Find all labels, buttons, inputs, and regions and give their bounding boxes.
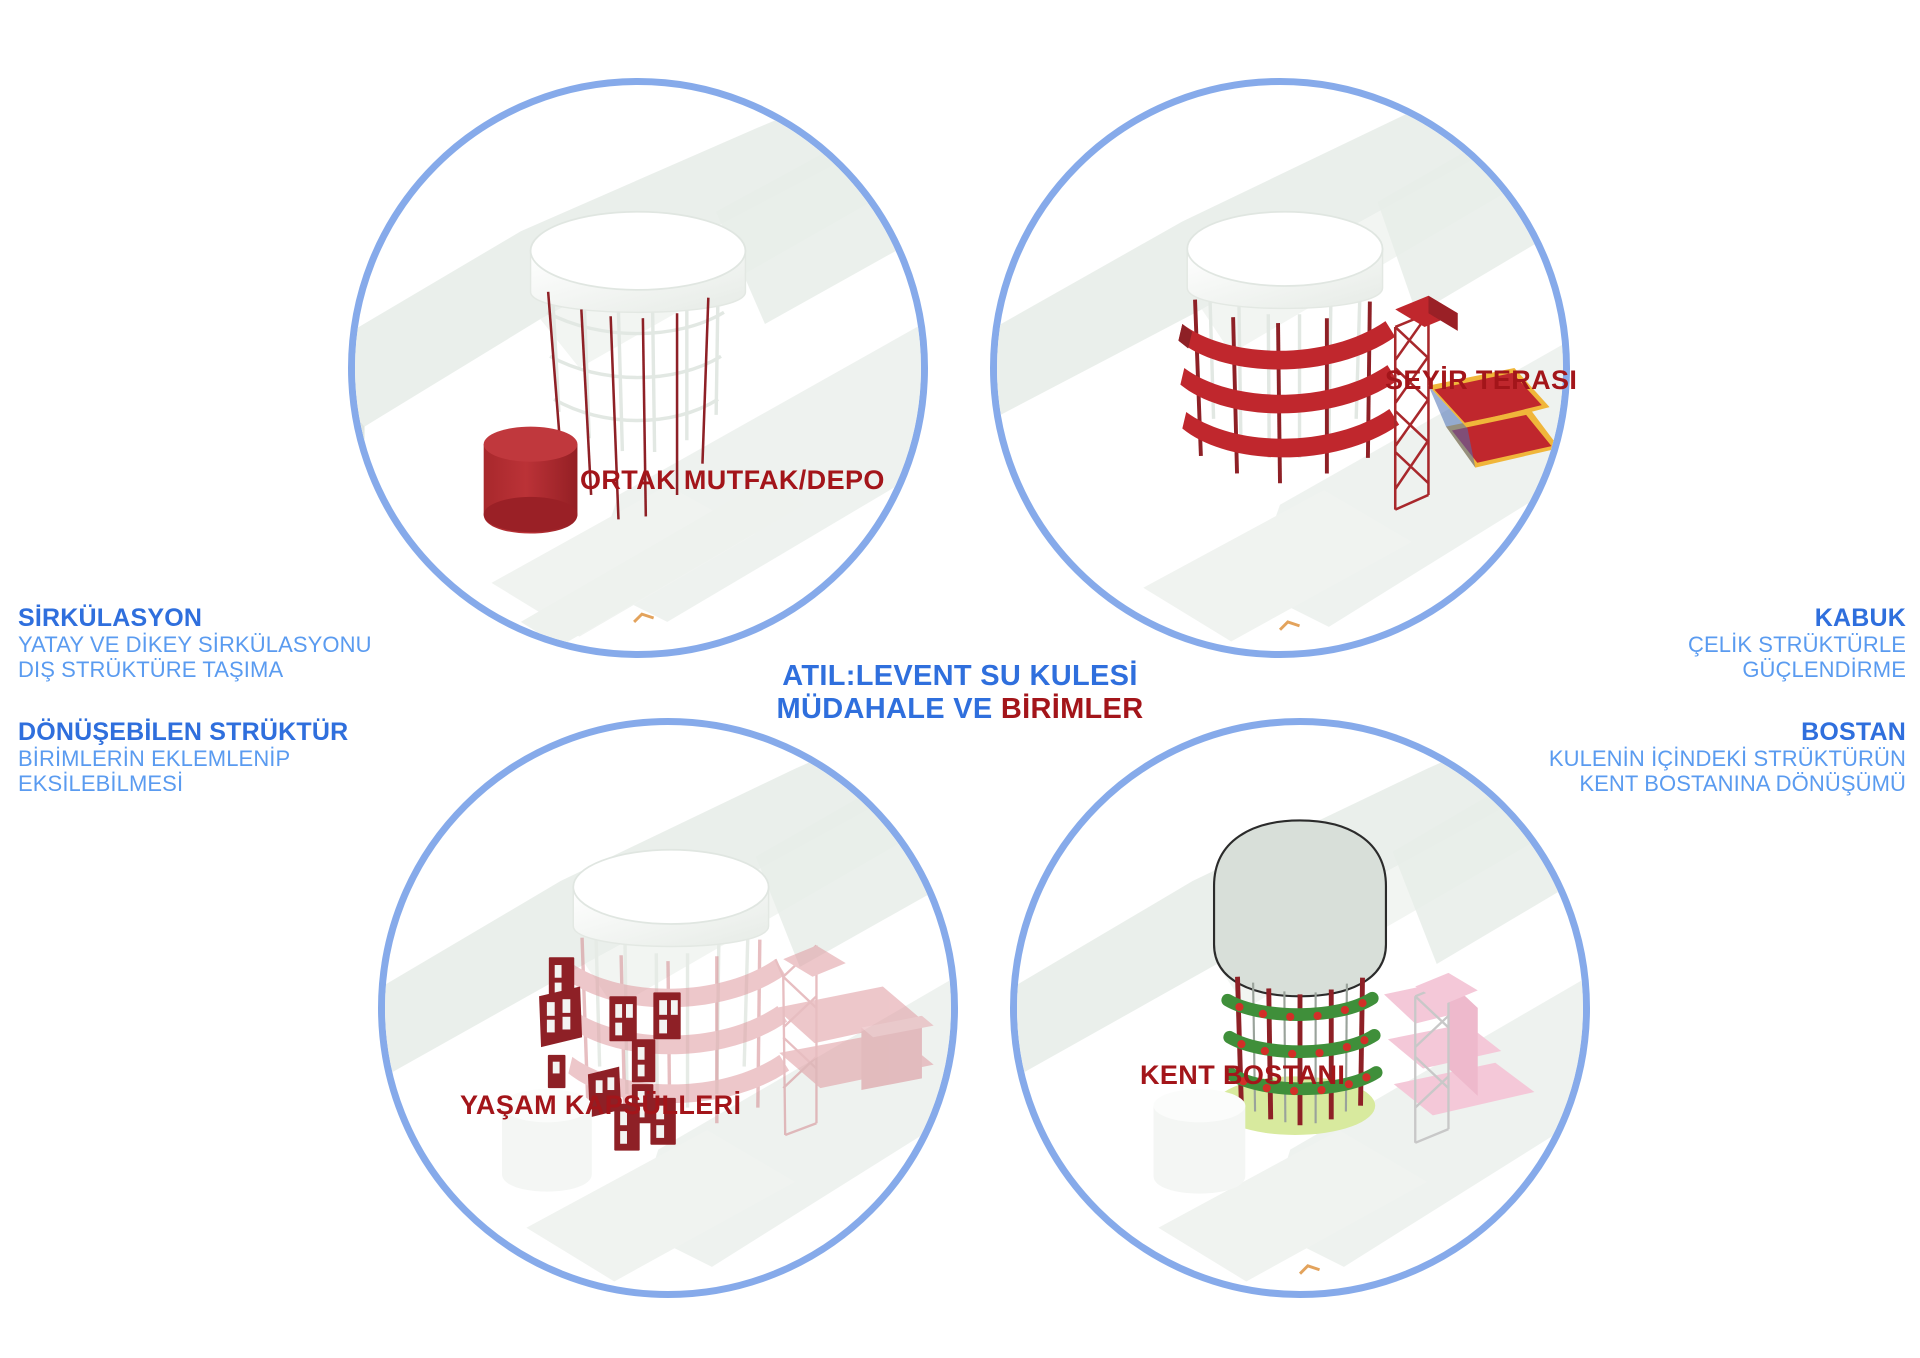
diagram-board: ORTAK MUTFAK/DEPO SEYİR TERASI YAŞAM KAP… [0,0,1920,1358]
note-sirkulasyon-line1: YATAY VE DİKEY SİRKÜLASYONU [18,633,372,658]
diagram-circle-yasam-kapsulleri[interactable] [378,718,958,1298]
page-title-line2-prefix: MÜDAHALE VE [777,693,1001,725]
page-title-accent: BİRİMLER [1001,693,1144,725]
page-title-line1: ATIL:LEVENT SU KULESİ [0,660,1920,693]
diagram-circle-ortak-mutfak[interactable] [348,78,928,658]
water-tank [1187,212,1382,309]
note-donusebilen-line1: BİRİMLERİN EKLEMLENİP [18,747,348,772]
scene-yasam-kapsulleri [378,718,958,1298]
tower-shell [1214,820,1386,996]
water-tank [531,212,746,313]
note-kabuk-line1: ÇELİK STRÜKTÜRLE [1688,633,1906,658]
water-tank [573,850,768,947]
caption-kent-bostani: KENT BOSTANI [1140,1060,1345,1091]
caption-yasam-kapsulleri: YAŞAM KAPSÜLLERİ [460,1090,741,1121]
scene-ortak-mutfak [348,78,928,658]
page-title-line2: MÜDAHALE VE BİRİMLER [0,693,1920,726]
caption-ortak-mutfak-depo: ORTAK MUTFAK/DEPO [580,465,885,496]
page-title: ATIL:LEVENT SU KULESİ MÜDAHALE VE BİRİML… [0,660,1920,726]
note-bostan-line2: KENT BOSTANINA DÖNÜŞÜMÜ [1549,772,1906,797]
note-kabuk-heading: KABUK [1688,604,1906,632]
base-cylinder [1154,1089,1246,1194]
note-donusebilen-struktur: DÖNÜŞEBİLEN STRÜKTÜR BİRİMLERİN EKLEMLEN… [18,718,348,796]
observation-decks [1178,321,1399,457]
note-donusebilen-line2: EKSİLEBİLMESİ [18,772,348,797]
note-bostan-line1: KULENİN İÇİNDEKİ STRÜKTÜRÜN [1549,747,1906,772]
kitchen-storage-volume [484,427,578,534]
scene-kent-bostani [1010,718,1590,1298]
note-bostan: BOSTAN KULENİN İÇİNDEKİ STRÜKTÜRÜN KENT … [1549,718,1906,796]
note-sirkulasyon-heading: SİRKÜLASYON [18,604,372,632]
urban-context [348,78,928,646]
caption-seyir-terasi: SEYİR TERASI [1385,365,1577,396]
diagram-circle-kent-bostani[interactable] [1010,718,1590,1298]
